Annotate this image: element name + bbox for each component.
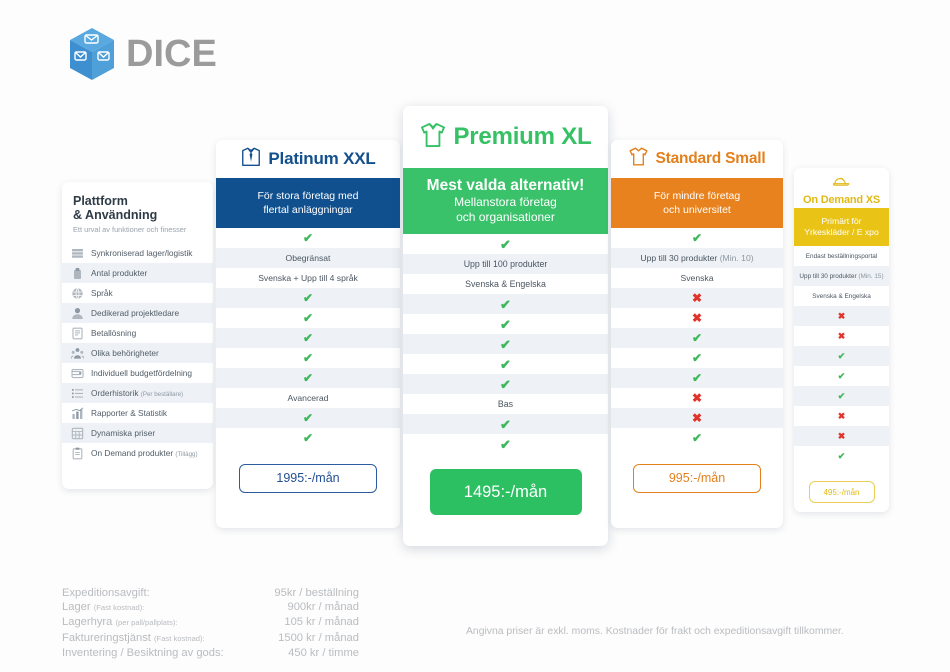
plan-cell: ✔ — [611, 368, 783, 388]
fee-list: Expeditionsavgift:95kr / beställningLage… — [62, 586, 359, 660]
plan-cell: Svenska + Upp till 4 språk — [216, 268, 400, 288]
feature-row: Synkroniserad lager/logistik — [62, 243, 213, 263]
feature-row: On Demand produkter (Tillägg) — [62, 443, 213, 463]
check-icon: ✔ — [303, 232, 313, 244]
check-icon: ✔ — [500, 238, 511, 251]
plan-card-premium[interactable]: Premium XLMest valda alternativ!Mellanst… — [403, 106, 608, 546]
plan-cell-text: Svenska — [681, 273, 714, 283]
plan-cell: ✔ — [611, 328, 783, 348]
plan-cell: ✔ — [216, 348, 400, 368]
plan-title-zone: Premium XL — [403, 106, 608, 168]
feature-label: Individuell budgetfördelning — [91, 368, 192, 378]
feature-row: Rapporter & Statistik — [62, 403, 213, 423]
plan-cell: ✔ — [403, 334, 608, 354]
check-icon: ✔ — [838, 392, 846, 401]
tshirt-icon — [628, 146, 649, 172]
polo-shirt-icon — [419, 121, 447, 154]
list-icon — [71, 387, 84, 400]
plan-tagline: För stora företag medflertal anläggninga… — [216, 178, 400, 228]
plan-cell: ✔ — [403, 294, 608, 314]
features-title-line1: Plattform — [73, 194, 213, 208]
plan-cell: ✖ — [794, 426, 889, 446]
plan-cell-text: Svenska & Engelska — [465, 279, 546, 289]
plan-price-zone: 1495:-/mån — [403, 454, 608, 530]
price-button-premium[interactable]: 1495:-/mån — [430, 469, 582, 515]
check-icon: ✔ — [500, 298, 511, 311]
cross-icon: ✖ — [838, 332, 846, 341]
person-icon — [71, 307, 84, 320]
plan-cell: ✔ — [216, 308, 400, 328]
plan-cell: ✖ — [611, 408, 783, 428]
plan-cell: ✔ — [403, 234, 608, 254]
check-icon: ✔ — [692, 352, 702, 364]
feature-label: Rapporter & Statistik — [91, 408, 167, 418]
fee-note: (per pall/pallplats): — [116, 618, 178, 627]
plan-cell-list: ✔ObegränsatSvenska + Upp till 4 språk✔✔✔… — [216, 228, 400, 448]
check-icon: ✔ — [692, 372, 702, 384]
feature-row: Antal produkter — [62, 263, 213, 283]
price-disclaimer: Angivna priser är exkl. moms. Kostnader … — [466, 626, 844, 637]
feature-label: Orderhistorik (Per beställare) — [91, 388, 183, 398]
features-header: Plattform & Användning Ett urval av funk… — [62, 182, 213, 243]
check-icon: ✔ — [500, 358, 511, 371]
plan-tagline-line1: Mellanstora företag — [454, 195, 557, 210]
plan-tagline-line2: och organisationer — [456, 210, 555, 225]
plan-cell: ✔ — [403, 314, 608, 334]
plan-cell-text: Endast beställningsportal — [806, 253, 877, 260]
plan-cell: Obegränsat — [216, 248, 400, 268]
calculator-grid-icon — [71, 427, 84, 440]
features-title-line2: & Användning — [73, 208, 213, 222]
fee-name: Expeditionsavgift: — [62, 586, 249, 600]
feature-label: Dynamiska priser — [91, 428, 155, 438]
plan-cell: Avancerad — [216, 388, 400, 408]
plan-cell: Svenska & Engelska — [403, 274, 608, 294]
check-icon: ✔ — [303, 312, 313, 324]
plan-cell: ✖ — [611, 288, 783, 308]
plan-cell-list: ✔Upp till 100 produkterSvenska & Engelsk… — [403, 234, 608, 454]
plan-title: Platinum XXL — [268, 149, 375, 169]
check-icon: ✔ — [838, 352, 846, 361]
price-button-standard[interactable]: 995:-/mån — [633, 464, 761, 493]
brand-wordmark: DICE — [126, 35, 217, 73]
feature-label: Språk — [91, 288, 113, 298]
wallet-icon — [71, 367, 84, 380]
fee-value: 1500 kr / månad — [249, 631, 359, 646]
plan-tagline-line1: För stora företag med — [258, 189, 359, 203]
check-icon: ✔ — [303, 432, 313, 444]
check-icon: ✔ — [500, 378, 511, 391]
check-icon: ✔ — [303, 332, 313, 344]
plan-cell: ✔ — [216, 228, 400, 248]
feature-label: Dedikerad projektledare — [91, 308, 179, 318]
fee-name: Lagerhyra (per pall/pallplats): — [62, 615, 249, 630]
plan-price-zone: 1995:-/mån — [216, 448, 400, 508]
feature-label: Synkroniserad lager/logistik — [91, 248, 192, 258]
cross-icon: ✖ — [692, 412, 702, 424]
plan-tagline: För mindre företagoch universitet — [611, 178, 783, 228]
fee-value: 95kr / beställning — [249, 586, 359, 600]
plan-price-zone: 495:-/mån — [794, 466, 889, 512]
server-rack-icon — [71, 247, 84, 260]
fee-value: 450 kr / timme — [249, 646, 359, 660]
plan-cell: ✔ — [794, 446, 889, 466]
price-button-platinum[interactable]: 1995:-/mån — [239, 464, 377, 493]
check-icon: ✔ — [692, 432, 702, 444]
plan-cell-list: Endast beställningsportalUpp till 30 pro… — [794, 246, 889, 466]
plan-title-zone: Platinum XXL — [216, 140, 400, 178]
plan-cell: ✖ — [611, 388, 783, 408]
globe-icon — [71, 287, 84, 300]
feature-label: Betallösning — [91, 328, 136, 338]
fee-row: Lagerhyra (per pall/pallplats):105 kr / … — [62, 615, 359, 630]
plan-cell: ✔ — [794, 386, 889, 406]
fee-row: Inventering / Besiktning av gods:450 kr … — [62, 646, 359, 660]
plan-cell: ✔ — [403, 374, 608, 394]
plan-cell: Bas — [403, 394, 608, 414]
plan-cell-text: Avancerad — [288, 393, 329, 403]
cross-icon: ✖ — [838, 432, 846, 441]
plan-cell: ✔ — [611, 228, 783, 248]
plan-tagline-line1: Primärt för — [821, 216, 861, 227]
cross-icon: ✖ — [692, 292, 702, 304]
document-card-icon — [71, 327, 84, 340]
fee-value: 900kr / månad — [249, 600, 359, 615]
fee-name: Lager (Fast kostnad): — [62, 600, 249, 615]
plan-cell-list: ✔Upp till 30 produkter (Min. 10)Svenska✖… — [611, 228, 783, 448]
plan-cell: ✔ — [216, 288, 400, 308]
check-icon: ✔ — [500, 318, 511, 331]
feature-label: On Demand produkter (Tillägg) — [91, 448, 198, 458]
plan-cell-text: Upp till 100 produkter — [464, 259, 548, 269]
plan-cell-text: Svenska & Engelska — [812, 293, 871, 300]
cross-icon: ✖ — [838, 412, 846, 421]
check-icon: ✔ — [500, 438, 511, 451]
plan-title: Standard Small — [655, 150, 765, 168]
plan-cell: ✖ — [794, 306, 889, 326]
plan-cell-text: Upp till 30 produkter (Min. 10) — [640, 253, 753, 263]
feature-row: Betallösning — [62, 323, 213, 343]
feature-row: Dynamiska priser — [62, 423, 213, 443]
check-icon: ✔ — [500, 418, 511, 431]
feature-label: Olika behörigheter — [91, 348, 159, 358]
check-icon: ✔ — [838, 372, 846, 381]
fee-row: Faktureringstjänst (Fast kostnad):1500 k… — [62, 631, 359, 646]
plan-cell-note: (Min. 15) — [858, 273, 883, 280]
plan-cell: ✔ — [794, 366, 889, 386]
plan-cell: ✔ — [216, 428, 400, 448]
group-users-icon — [71, 347, 84, 360]
plan-cell: Upp till 30 produkter (Min. 15) — [794, 266, 889, 286]
features-panel: Plattform & Användning Ett urval av funk… — [62, 182, 213, 489]
plan-tagline: Primärt förYrkeskläder / E xpo — [794, 208, 889, 246]
dress-shirt-tie-icon — [240, 146, 262, 173]
plan-title-zone: On Demand XS — [794, 168, 889, 208]
plan-card-platinum[interactable]: Platinum XXLFör stora företag medflertal… — [216, 140, 400, 528]
cross-icon: ✖ — [692, 392, 702, 404]
plan-cell: ✔ — [611, 428, 783, 448]
features-row-list: Synkroniserad lager/logistikAntal produk… — [62, 243, 213, 463]
plan-tagline-line2: Yrkeskläder / E xpo — [804, 227, 879, 238]
bar-chart-icon — [71, 407, 84, 420]
features-subtitle: Ett urval av funktioner och finesser — [73, 225, 213, 234]
plan-cell: Upp till 100 produkter — [403, 254, 608, 274]
price-button-ondemand[interactable]: 495:-/mån — [809, 481, 875, 503]
plan-cell: ✖ — [794, 406, 889, 426]
plan-cell: Svenska & Engelska — [794, 286, 889, 306]
plan-cell: ✔ — [216, 328, 400, 348]
feature-row: Olika behörigheter — [62, 343, 213, 363]
check-icon: ✔ — [303, 292, 313, 304]
plan-cell: ✖ — [611, 308, 783, 328]
pricing-page: DICE Plattform & Användning Ett urval av… — [0, 0, 950, 672]
plan-cell: ✔ — [403, 414, 608, 434]
check-icon: ✔ — [692, 232, 702, 244]
plan-cell: ✔ — [403, 354, 608, 374]
fee-value: 105 kr / månad — [249, 615, 359, 630]
fee-note: (Fast kostnad): — [94, 603, 145, 612]
plan-cell: ✔ — [794, 346, 889, 366]
check-icon: ✔ — [303, 372, 313, 384]
clipboard-icon — [71, 447, 84, 460]
check-icon: ✔ — [303, 352, 313, 364]
check-icon: ✔ — [692, 332, 702, 344]
plan-cell: ✖ — [794, 326, 889, 346]
check-icon: ✔ — [838, 452, 846, 461]
fee-row: Expeditionsavgift:95kr / beställning — [62, 586, 359, 600]
plan-cell: Endast beställningsportal — [794, 246, 889, 266]
feature-row: Dedikerad projektledare — [62, 303, 213, 323]
fee-name: Faktureringstjänst (Fast kostnad): — [62, 631, 249, 646]
check-icon: ✔ — [500, 338, 511, 351]
plan-cell-note: (Min. 10) — [720, 253, 754, 263]
plan-cell: Svenska — [611, 268, 783, 288]
plan-cell: Upp till 30 produkter (Min. 10) — [611, 248, 783, 268]
cap-icon — [832, 175, 851, 193]
plan-cell: ✔ — [216, 368, 400, 388]
cross-icon: ✖ — [692, 312, 702, 324]
plan-title: Premium XL — [453, 123, 591, 151]
plan-cell: ✔ — [216, 408, 400, 428]
plan-cell: ✔ — [611, 348, 783, 368]
plan-title-zone: Standard Small — [611, 140, 783, 178]
feature-label: Antal produkter — [91, 268, 147, 278]
plan-cell-text: Svenska + Upp till 4 språk — [258, 273, 358, 283]
feature-note: (Tillägg) — [175, 451, 197, 458]
plan-card-ondemand[interactable]: On Demand XSPrimärt förYrkeskläder / E x… — [794, 168, 889, 512]
plan-cell-text: Bas — [498, 399, 513, 409]
plan-tagline-line2: flertal anläggningar — [263, 203, 352, 217]
brand-logo: DICE — [66, 26, 217, 82]
plan-tagline-line1: För mindre företag — [654, 189, 740, 203]
fee-note: (Fast kostnad): — [154, 634, 205, 643]
plan-price-zone: 995:-/mån — [611, 448, 783, 508]
feature-note: (Per beställare) — [141, 391, 183, 398]
cross-icon: ✖ — [838, 312, 846, 321]
fee-row: Lager (Fast kostnad):900kr / månad — [62, 600, 359, 615]
feature-row: Språk — [62, 283, 213, 303]
product-box-icon — [71, 267, 84, 280]
plan-tagline-line2: och universitet — [663, 203, 731, 217]
fee-name: Inventering / Besiktning av gods: — [62, 646, 249, 660]
plan-cell-text: Obegränsat — [286, 253, 331, 263]
dice-cube-icon — [66, 26, 118, 82]
plan-tagline-highlight: Mest valda alternativ! — [427, 178, 585, 194]
plan-card-standard[interactable]: Standard SmallFör mindre företagoch univ… — [611, 140, 783, 528]
plan-title: On Demand XS — [803, 194, 880, 206]
plan-cell-text: Upp till 30 produkter (Min. 15) — [799, 273, 883, 280]
feature-row: Individuell budgetfördelning — [62, 363, 213, 383]
feature-row: Orderhistorik (Per beställare) — [62, 383, 213, 403]
check-icon: ✔ — [303, 412, 313, 424]
plan-tagline: Mest valda alternativ!Mellanstora företa… — [403, 168, 608, 234]
plan-cell: ✔ — [403, 434, 608, 454]
